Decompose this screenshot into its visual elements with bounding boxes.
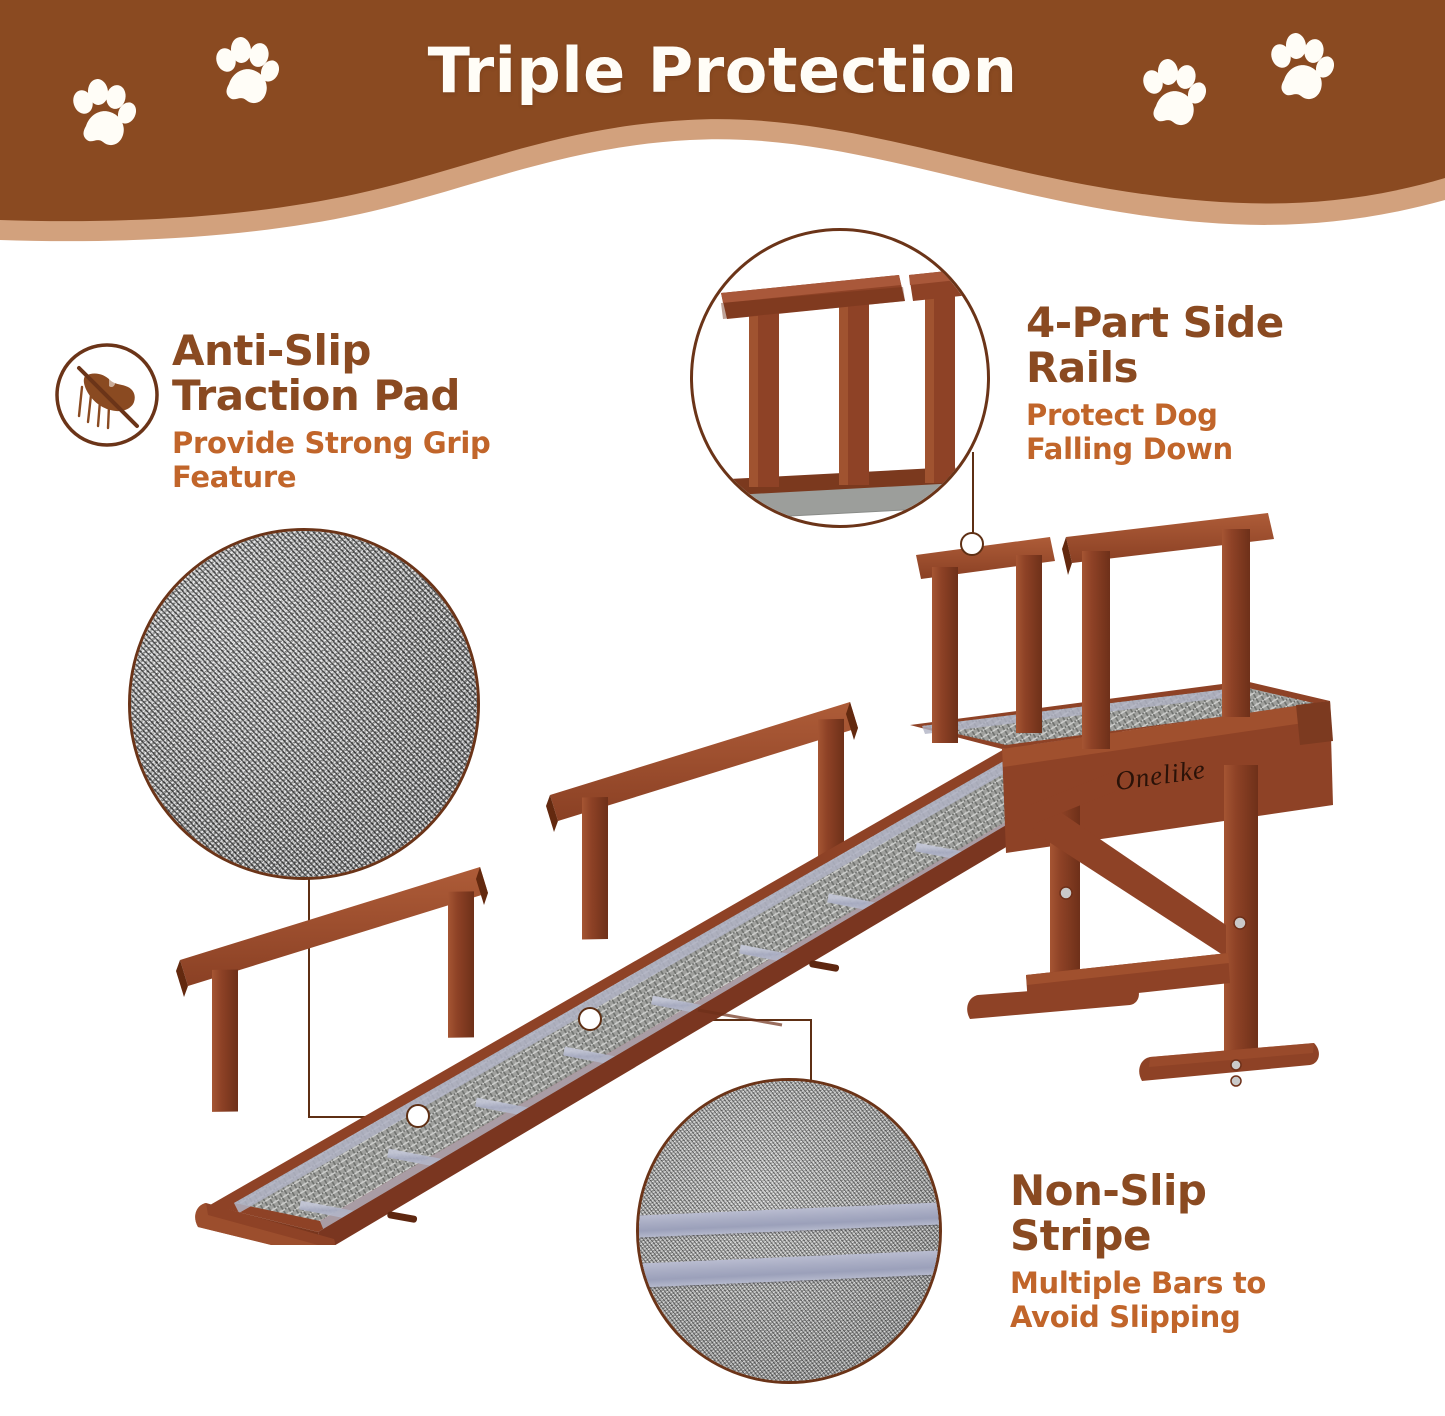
- no-slip-shoe-icon: [52, 340, 162, 450]
- feature-subtitle-line1: Provide Strong Grip: [172, 426, 572, 460]
- callout-anchor-dot: [406, 1104, 430, 1128]
- feature-anti-slip-traction-pad: Anti-Slip Traction Pad Provide Strong Gr…: [172, 328, 572, 494]
- feature-subtitle-line2: Feature: [172, 460, 572, 494]
- feature-subtitle: Multiple Bars to Avoid Slipping: [1010, 1266, 1410, 1334]
- feature-title-line2: Rails: [1026, 345, 1426, 390]
- feature-subtitle: Provide Strong Grip Feature: [172, 426, 572, 494]
- paw-print-icon: [70, 78, 136, 150]
- paw-print-icon: [1268, 32, 1334, 104]
- feature-subtitle-line2: Falling Down: [1026, 432, 1426, 466]
- feature-subtitle-line2: Avoid Slipping: [1010, 1300, 1410, 1334]
- grip-bar: [636, 1249, 942, 1288]
- feature-title-line1: Anti-Slip: [172, 328, 572, 373]
- feature-title-line1: 4-Part Side: [1026, 300, 1426, 345]
- wooden-side-rail-posts: [693, 231, 987, 525]
- callout-anchor-dot: [578, 1007, 602, 1031]
- paw-print-icon: [1140, 58, 1206, 130]
- feature-title: Anti-Slip Traction Pad: [172, 328, 572, 419]
- feature-subtitle: Protect Dog Falling Down: [1026, 398, 1426, 466]
- paw-print-icon: [213, 36, 279, 108]
- header-banner: Triple Protection: [0, 0, 1445, 250]
- feature-title: 4-Part Side Rails: [1026, 300, 1426, 391]
- callout-side-rails-closeup: [690, 228, 990, 528]
- feature-subtitle-line1: Protect Dog: [1026, 398, 1426, 432]
- callout-anchor-dot: [960, 532, 984, 556]
- feature-title-line2: Traction Pad: [172, 373, 572, 418]
- feature-subtitle-line1: Multiple Bars to: [1010, 1266, 1410, 1300]
- product-dog-ramp: Onelike: [150, 505, 1360, 1245]
- feature-four-part-side-rails: 4-Part Side Rails Protect Dog Falling Do…: [1026, 300, 1426, 466]
